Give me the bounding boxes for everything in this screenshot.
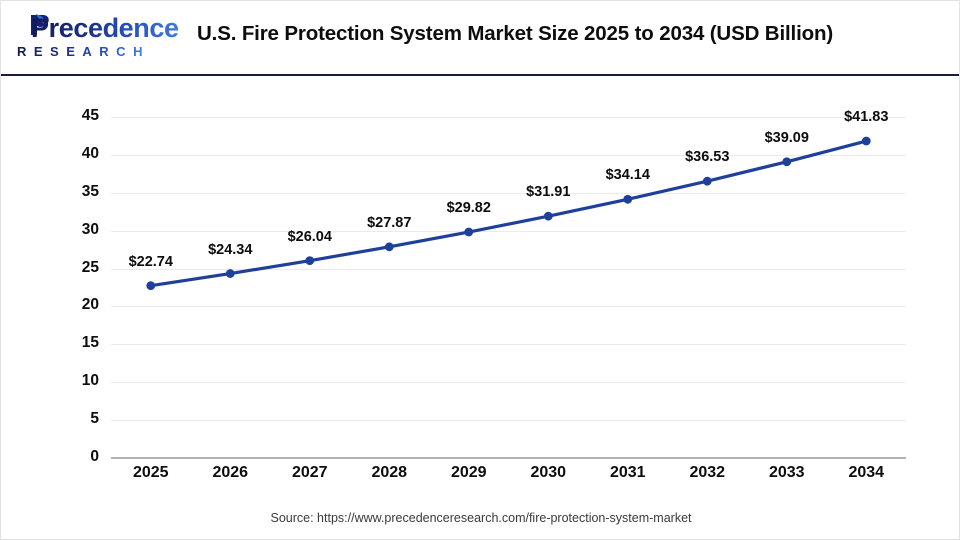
data-point-marker[interactable] <box>226 269 235 278</box>
chart-plot-region: 051015202530354045 202520262027202820292… <box>1 76 960 540</box>
data-point-label: $31.91 <box>505 184 591 200</box>
data-point-label: $41.83 <box>823 109 909 125</box>
data-point-label: $24.34 <box>187 242 273 258</box>
data-point-marker[interactable] <box>146 281 155 290</box>
data-point-marker[interactable] <box>544 212 553 221</box>
data-point-marker[interactable] <box>703 177 712 186</box>
data-point-marker[interactable] <box>782 157 791 166</box>
data-point-label: $39.09 <box>744 130 830 146</box>
data-point-marker[interactable] <box>862 137 871 146</box>
precedence-research-logo: Precedence RESEARCH <box>15 11 165 65</box>
data-point-marker[interactable] <box>464 228 473 237</box>
data-point-label: $27.87 <box>346 215 432 231</box>
data-point-label: $34.14 <box>585 167 671 183</box>
data-point-label: $26.04 <box>267 229 353 245</box>
data-point-label: $22.74 <box>108 254 194 270</box>
chart-header: Precedence RESEARCH U.S. Fire Protection… <box>1 1 959 75</box>
data-point-label: $36.53 <box>664 149 750 165</box>
data-point-marker[interactable] <box>305 256 314 265</box>
data-point-label: $29.82 <box>426 200 512 216</box>
logo-subtext: RESEARCH <box>17 43 150 61</box>
data-point-marker[interactable] <box>385 242 394 251</box>
chart-page: Precedence RESEARCH U.S. Fire Protection… <box>0 0 960 540</box>
source-note: Source: https://www.precedenceresearch.c… <box>1 511 960 525</box>
logo-wordmark: Precedence <box>31 11 179 45</box>
page-title: U.S. Fire Protection System Market Size … <box>197 22 833 46</box>
data-point-marker[interactable] <box>623 195 632 204</box>
